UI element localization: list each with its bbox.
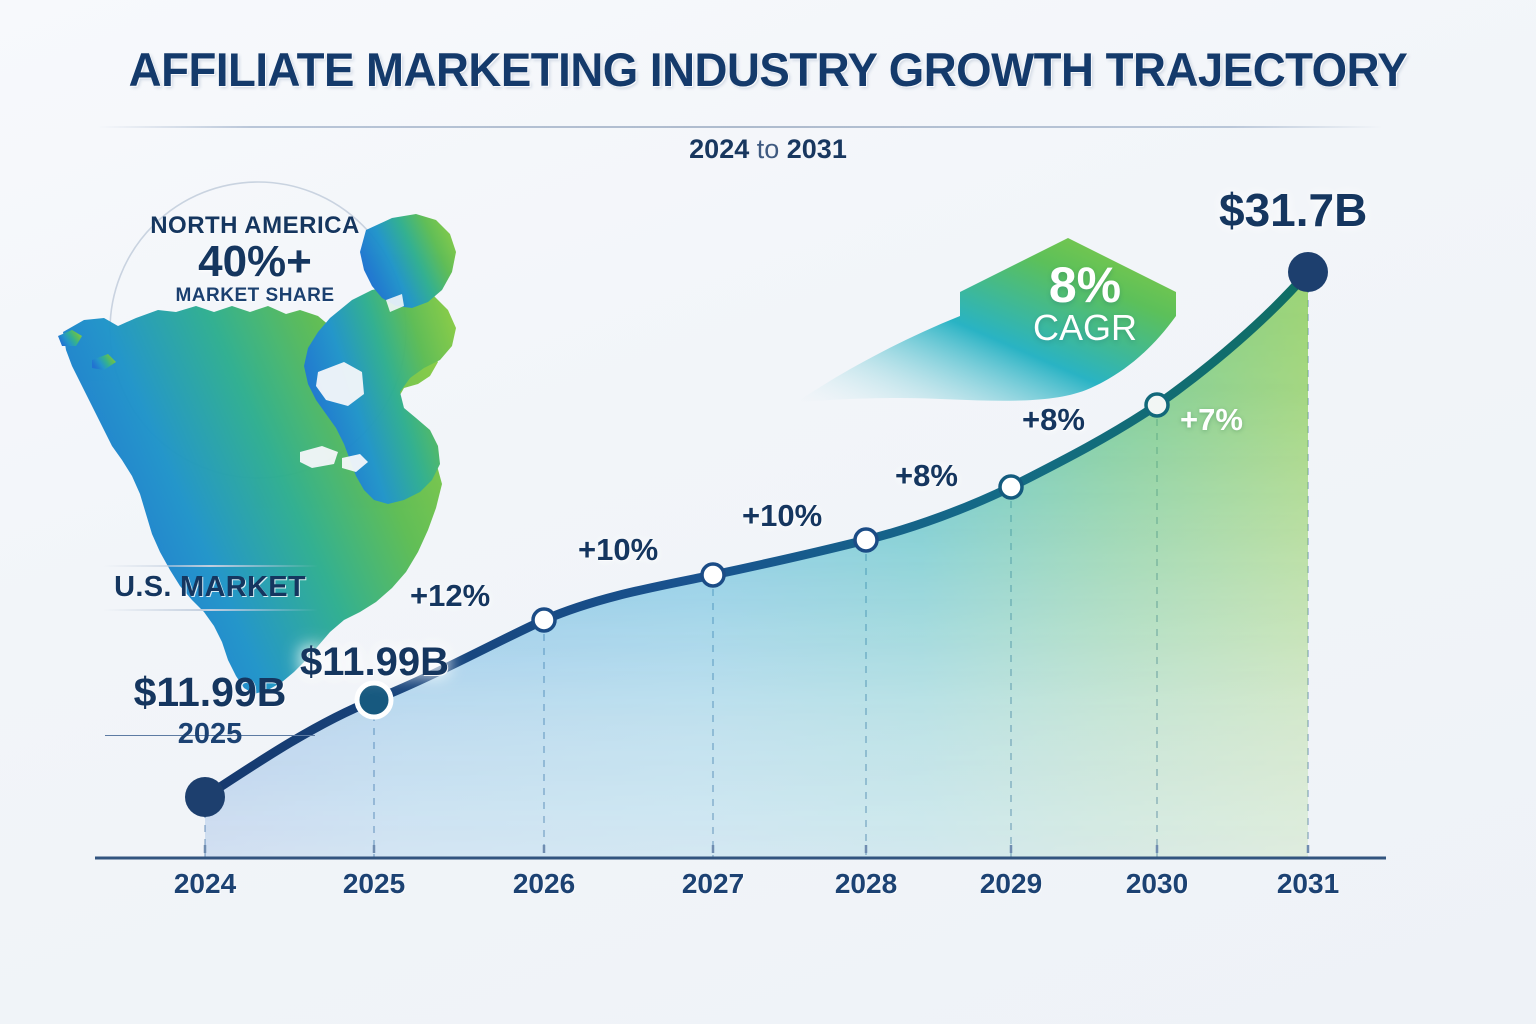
x-tick-2024: 2024 — [174, 868, 236, 900]
cagr-arrow — [800, 238, 1176, 402]
us-market-year-wrap: 2025 — [95, 718, 325, 751]
growth-label-2029-text: +8% — [895, 458, 958, 493]
page-subtitle: 2024 to 2031 — [0, 134, 1536, 165]
growth-label-2026: +12% — [410, 578, 490, 614]
subtitle-end-year: 2031 — [787, 134, 847, 164]
growth-label-2027-text: +10% — [578, 532, 658, 567]
growth-label-2031: +7% — [1180, 402, 1243, 438]
growth-label-2027: +10% — [578, 532, 658, 568]
data-point-2028[interactable] — [855, 529, 877, 551]
title-divider — [98, 126, 1383, 128]
page-title: AFFILIATE MARKETING INDUSTRY GROWTH TRAJ… — [23, 42, 1513, 97]
growth-label-2028-text: +10% — [742, 498, 822, 533]
value-label-2025: $11.99B — [300, 640, 449, 685]
data-point-2031[interactable] — [1288, 252, 1328, 292]
growth-label-2026-text: +12% — [410, 578, 490, 613]
subtitle-connector: to — [749, 134, 787, 164]
us-market-value: $11.99B — [95, 669, 325, 716]
us-market-year: 2025 — [178, 718, 243, 751]
x-tick-2025: 2025 — [343, 868, 405, 900]
data-point-2029[interactable] — [1000, 476, 1022, 498]
subtitle-start-year: 2024 — [689, 134, 749, 164]
growth-label-2030: +8% — [1022, 402, 1085, 438]
x-tick-2030: 2030 — [1126, 868, 1188, 900]
x-tick-2031: 2031 — [1277, 868, 1339, 900]
growth-label-2031-text: +7% — [1180, 402, 1243, 437]
growth-label-2030-text: +8% — [1022, 402, 1085, 437]
value-label-2031: $31.7B — [1219, 183, 1367, 237]
infographic-canvas: AFFILIATE MARKETING INDUSTRY GROWTH TRAJ… — [0, 0, 1536, 1024]
data-point-2025[interactable] — [357, 683, 391, 717]
us-market-callout: U.S. MARKET $11.99B 2025 — [95, 565, 325, 751]
x-tick-2027: 2027 — [682, 868, 744, 900]
x-tick-2026: 2026 — [513, 868, 575, 900]
us-market-label: U.S. MARKET — [95, 567, 325, 609]
growth-label-2028: +10% — [742, 498, 822, 534]
us-market-rule-bottom — [103, 609, 318, 611]
data-point-2026[interactable] — [533, 609, 555, 631]
data-point-2027[interactable] — [702, 564, 724, 586]
growth-label-2029: +8% — [895, 458, 958, 494]
x-tick-2028: 2028 — [835, 868, 897, 900]
x-tick-2029: 2029 — [980, 868, 1042, 900]
data-point-2024[interactable] — [185, 777, 225, 817]
data-point-2030[interactable] — [1146, 394, 1168, 416]
